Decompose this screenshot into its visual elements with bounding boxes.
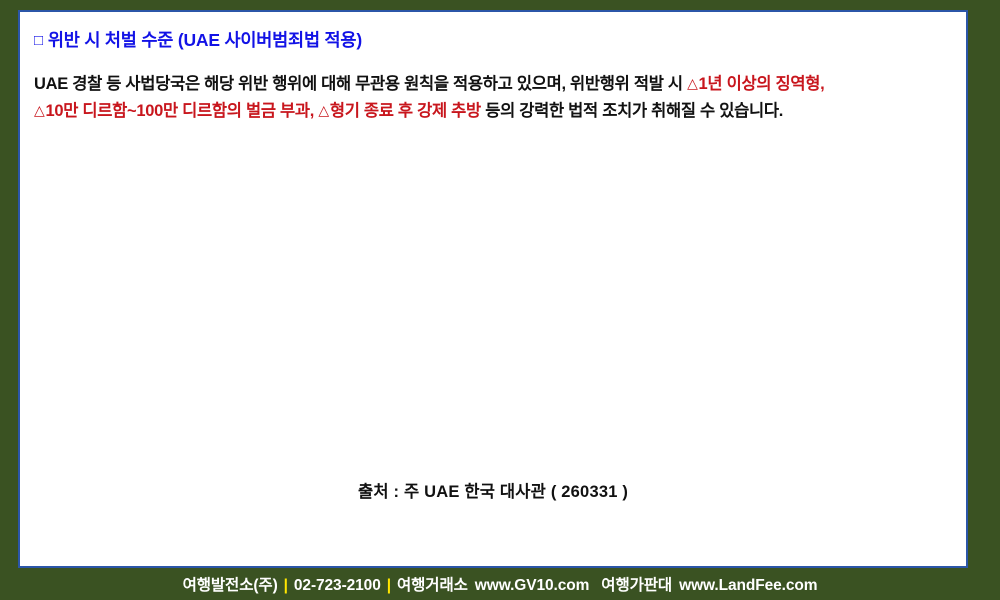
body-line1-plain: UAE 경찰 등 사법당국은 해당 위반 행위에 대해 무관용 원칙을 적용하고…: [34, 75, 683, 93]
section-heading: □위반 시 처벌 수준 (UAE 사이버범죄법 적용): [34, 30, 950, 51]
footer-phone-number: 02-723-2100: [294, 577, 381, 594]
content-panel-inner: □위반 시 처벌 수준 (UAE 사이버범죄법 적용) UAE 경찰 등 사법당…: [20, 12, 966, 566]
slide-frame: □위반 시 처벌 수준 (UAE 사이버범죄법 적용) UAE 경찰 등 사법당…: [0, 0, 1000, 600]
footer-brand-2: 여행가판대: [601, 577, 672, 594]
body-line-2: △10만 디르함~100만 디르함의 벌금 부과, △형기 종료 후 강제 추방…: [34, 98, 950, 125]
emphasis-penalty-fine: △10만 디르함~100만 디르함의 벌금 부과,: [34, 102, 314, 120]
footer-website-1[interactable]: www.GV10.com: [475, 577, 590, 594]
emphasis-penalty-prison: △1년 이상의 징역형,: [687, 75, 824, 93]
square-bullet-icon: □: [34, 32, 43, 49]
footer-separator-1: |: [284, 577, 288, 594]
footer-company-name: 여행발전소(주): [183, 577, 278, 594]
source-attribution: 출처 : 주 UAE 한국 대사관 ( 260331 ): [20, 478, 966, 502]
body-paragraph: UAE 경찰 등 사법당국은 해당 위반 행위에 대해 무관용 원칙을 적용하고…: [34, 71, 950, 124]
emphasis-penalty-deport: △형기 종료 후 강제 추방: [318, 102, 481, 120]
footer-separator-2: |: [387, 577, 391, 594]
footer-contact-line: 여행발전소(주)|02-723-2100|여행거래소www.GV10.com여행…: [183, 573, 818, 595]
footer-bar: 여행발전소(주)|02-723-2100|여행거래소www.GV10.com여행…: [0, 568, 1000, 600]
footer-brand-1: 여행거래소: [397, 577, 468, 594]
section-heading-text: 위반 시 처벌 수준 (UAE 사이버범죄법 적용): [48, 30, 362, 50]
triangle-marker-icon: △: [34, 102, 44, 118]
triangle-marker-icon: △: [318, 102, 328, 118]
emphasis-penalty-deport-text: 형기 종료 후 강제 추방: [330, 102, 481, 120]
triangle-marker-icon: △: [687, 75, 697, 91]
footer-website-2[interactable]: www.LandFee.com: [679, 577, 817, 594]
emphasis-penalty-prison-text: 1년 이상의 징역형,: [699, 75, 825, 93]
body-line-1: UAE 경찰 등 사법당국은 해당 위반 행위에 대해 무관용 원칙을 적용하고…: [34, 71, 950, 98]
body-line2-plain: 등의 강력한 법적 조치가 취해질 수 있습니다.: [485, 102, 783, 120]
emphasis-penalty-fine-text: 10만 디르함~100만 디르함의 벌금 부과,: [45, 102, 314, 120]
content-panel: □위반 시 처벌 수준 (UAE 사이버범죄법 적용) UAE 경찰 등 사법당…: [18, 10, 968, 568]
